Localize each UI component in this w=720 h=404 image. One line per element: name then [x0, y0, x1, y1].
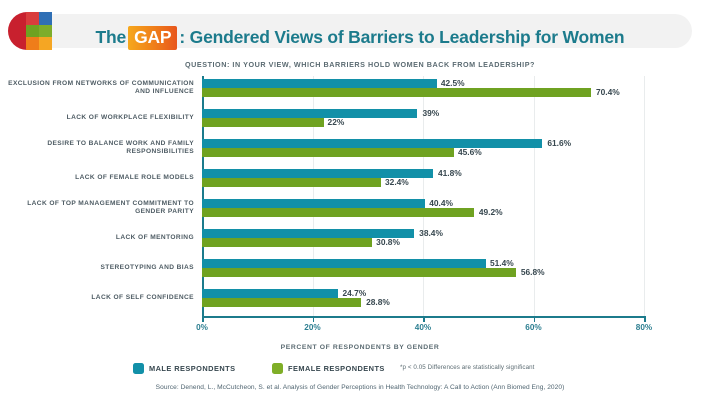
logo-cell-green	[26, 25, 39, 38]
value-label-female: 56.8%	[521, 268, 545, 277]
chart-question: QUESTION: IN YOUR VIEW, WHICH BARRIERS H…	[0, 60, 720, 69]
x-tick	[202, 316, 204, 322]
value-label-male: 39%	[422, 109, 439, 118]
value-label-male: 42.5%	[441, 79, 465, 88]
legend-swatch-female-icon	[272, 363, 283, 374]
gap-badge: GAP	[128, 26, 177, 50]
legend-item-male[interactable]: MALE RESPONDENTS	[133, 363, 235, 374]
bar-male	[202, 199, 425, 208]
bar-female	[202, 118, 324, 127]
category-label: DESIRE TO BALANCE WORK AND FAMILY RESPON…	[4, 140, 194, 157]
x-tick	[534, 316, 536, 322]
value-label-male: 40.4%	[429, 199, 453, 208]
bar-male	[202, 259, 486, 268]
x-tick-label: 60%	[525, 323, 541, 332]
legend-label-male: MALE RESPONDENTS	[149, 364, 235, 373]
category-label: LACK OF FEMALE ROLE MODELS	[4, 174, 194, 182]
legend-label-female: FEMALE RESPONDENTS	[288, 364, 385, 373]
value-label-female: 30.8%	[376, 238, 400, 247]
title-the: The	[96, 27, 127, 47]
logo-cell-red	[26, 12, 39, 25]
legend-swatch-male-icon	[133, 363, 144, 374]
bar-male	[202, 289, 338, 298]
bar-male	[202, 79, 437, 88]
x-tick	[313, 316, 315, 322]
x-tick-label: 40%	[415, 323, 431, 332]
x-axis: 0%20%40%60%80%	[202, 316, 704, 330]
page-title: TheGAP: Gendered Views of Barriers to Le…	[28, 26, 692, 50]
value-label-male: 38.4%	[419, 229, 443, 238]
logo-cell-green2	[39, 25, 52, 38]
chart-legend: MALE RESPONDENTS FEMALE RESPONDENTS *p <…	[0, 362, 720, 378]
value-label-female: 49.2%	[479, 208, 503, 217]
logo-cell-orange	[26, 37, 39, 50]
bar-female	[202, 208, 474, 217]
value-label-female: 45.6%	[458, 148, 482, 157]
chart-page: TheGAP: Gendered Views of Barriers to Le…	[0, 0, 720, 404]
category-label: LACK OF WORKPLACE FLEXIBILITY	[4, 114, 194, 122]
value-label-male: 24.7%	[342, 289, 366, 298]
bars-area: 28%42.5%70.4%17%39%22%16%61.6%45.6%9%41.…	[202, 76, 704, 316]
x-tick	[644, 316, 646, 322]
significance-note: *p < 0.05 Differences are statistically …	[400, 364, 534, 371]
category-label: LACK OF SELF CONFIDENCE	[4, 294, 194, 302]
category-label: LACK OF TOP MANAGEMENT COMMITMENT TO GEN…	[4, 200, 194, 217]
value-label-female: 70.4%	[596, 88, 620, 97]
logo-color-grid	[26, 12, 52, 50]
bar-male	[202, 109, 417, 118]
gridline	[534, 76, 535, 316]
category-label: EXCLUSION FROM NETWORKS OF COMMUNICATION…	[4, 80, 194, 97]
bar-female	[202, 268, 516, 277]
bar-male	[202, 139, 542, 148]
gap-logo-icon	[8, 12, 52, 50]
x-tick	[423, 316, 425, 322]
title-pill: TheGAP: Gendered Views of Barriers to Le…	[28, 14, 692, 48]
category-label: STEREOTYPING AND BIAS	[4, 264, 194, 272]
logo-cell-yellow	[39, 37, 52, 50]
x-tick-label: 20%	[304, 323, 320, 332]
source-citation: Source: Denend, L., McCutcheon, S. et al…	[0, 384, 720, 391]
chart-header: TheGAP: Gendered Views of Barriers to Le…	[0, 0, 720, 58]
x-tick-label: 0%	[196, 323, 208, 332]
value-label-male: 51.4%	[490, 259, 514, 268]
x-axis-title: PERCENT OF RESPONDENTS BY GENDER	[0, 344, 720, 351]
bar-female	[202, 298, 361, 307]
x-tick-label: 80%	[636, 323, 652, 332]
bar-female	[202, 148, 454, 157]
bar-female	[202, 178, 381, 187]
category-labels: EXCLUSION FROM NETWORKS OF COMMUNICATION…	[0, 76, 202, 316]
value-label-female: 32.4%	[385, 178, 409, 187]
logo-cell-blue	[39, 12, 52, 25]
bar-female	[202, 88, 591, 97]
gridline	[644, 76, 645, 316]
legend-item-female[interactable]: FEMALE RESPONDENTS	[272, 363, 385, 374]
value-label-female: 28.8%	[366, 298, 390, 307]
value-label-male: 41.8%	[438, 169, 462, 178]
title-rest: : Gendered Views of Barriers to Leadersh…	[179, 27, 624, 47]
bar-female	[202, 238, 372, 247]
plot-area: EXCLUSION FROM NETWORKS OF COMMUNICATION…	[0, 76, 720, 316]
value-label-female: 22%	[328, 118, 345, 127]
value-label-male: 61.6%	[547, 139, 571, 148]
category-label: LACK OF MENTORING	[4, 234, 194, 242]
